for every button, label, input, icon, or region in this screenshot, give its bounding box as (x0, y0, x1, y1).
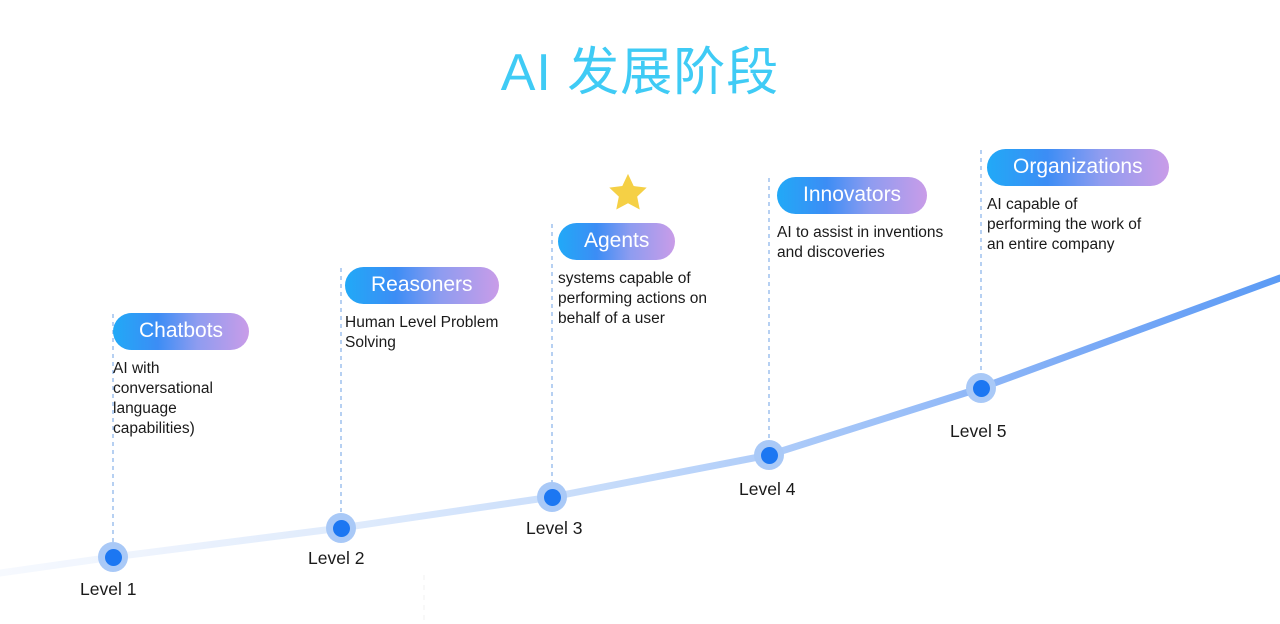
stage-description-innovators: AI to assist in inventions and discoveri… (777, 223, 943, 263)
stage-pill-agents[interactable]: Agents (558, 223, 675, 260)
milestone-level-5: Organizations AI capable of performing t… (987, 149, 1169, 255)
slide-canvas: AI 发展阶段 Chatbots AI wit (0, 0, 1280, 624)
stage-pill-organizations[interactable]: Organizations (987, 149, 1169, 186)
milestone-level-1: Chatbots AI with conversational language… (113, 313, 249, 439)
level-label-5: Level 5 (950, 420, 1006, 442)
milestone-level-4: Innovators AI to assist in inventions an… (777, 177, 943, 263)
level-label-4: Level 4 (739, 478, 795, 500)
stage-pill-innovators[interactable]: Innovators (777, 177, 927, 214)
stage-description-agents: systems capable of performing actions on… (558, 269, 707, 329)
milestone-level-3: Agents systems capable of performing act… (558, 223, 707, 329)
level-label-1: Level 1 (80, 578, 136, 600)
stage-description-chatbots: AI with conversational language capabili… (113, 359, 249, 439)
milestone-level-2: Reasoners Human Level Problem Solving (345, 267, 499, 353)
milestone-dot-level-1[interactable] (98, 542, 128, 572)
pill-wrap-level-5: Organizations (987, 149, 1169, 186)
milestone-dot-level-3[interactable] (537, 482, 567, 512)
stage-description-reasoners: Human Level Problem Solving (345, 313, 499, 353)
page-title: AI 发展阶段 (0, 42, 1280, 104)
pill-wrap-level-1: Chatbots (113, 313, 249, 350)
pill-wrap-level-3: Agents (558, 223, 707, 260)
milestone-dot-level-4[interactable] (754, 440, 784, 470)
pill-wrap-level-2: Reasoners (345, 267, 499, 304)
pill-wrap-level-4: Innovators (777, 177, 943, 214)
level-label-2: Level 2 (308, 547, 364, 569)
level-label-3: Level 3 (526, 517, 582, 539)
stage-description-organizations: AI capable of performing the work of an … (987, 195, 1169, 255)
milestone-dot-level-2[interactable] (326, 513, 356, 543)
milestone-dot-level-5[interactable] (966, 373, 996, 403)
stage-pill-reasoners[interactable]: Reasoners (345, 267, 499, 304)
stage-pill-chatbots[interactable]: Chatbots (113, 313, 249, 350)
star-icon (605, 171, 651, 215)
